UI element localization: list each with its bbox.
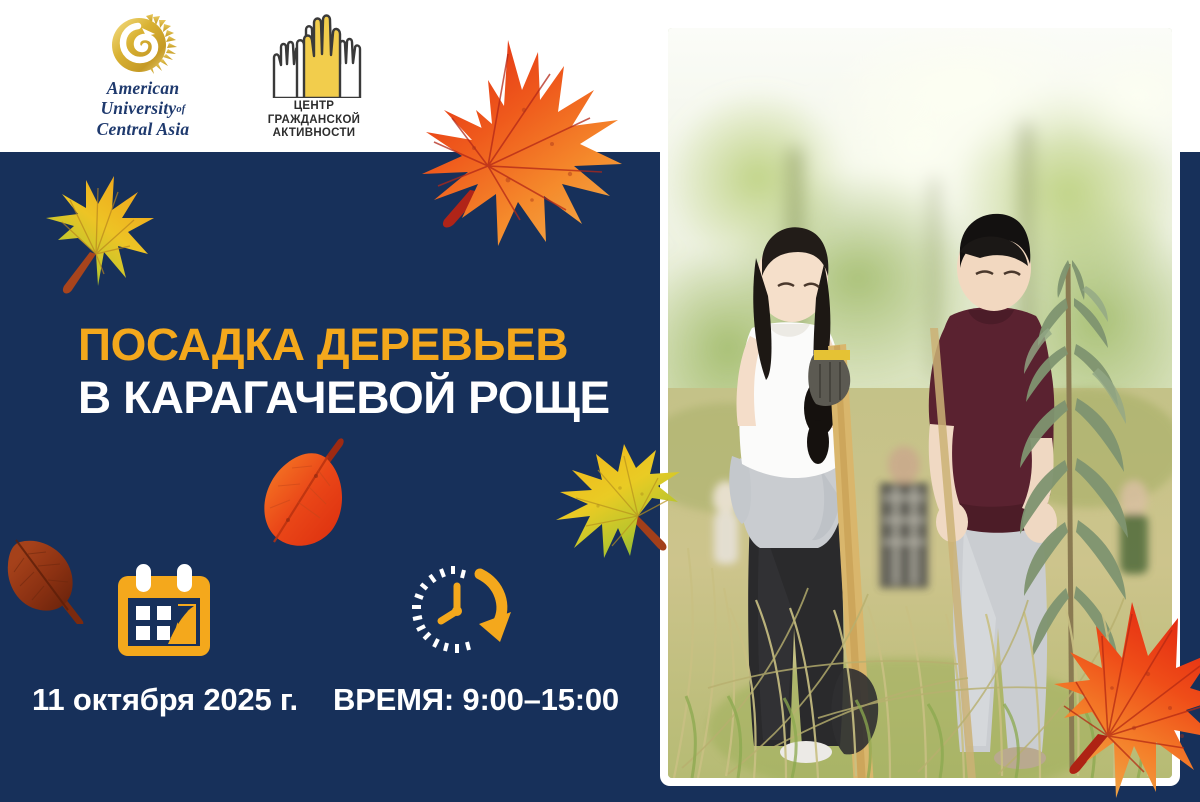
event-time-block: ВРЕМЯ: 9:00–15:00 [330,560,622,718]
auca-logo: American Universityof Central Asia [72,12,214,144]
maple-leaf-yellow-mid-icon [546,444,680,568]
auca-line-1: American [107,78,180,98]
maple-leaf-top-icon [404,14,626,254]
auca-eagle-sun-emblem-icon [108,12,180,78]
cga-line-1: ЦЕНТР [294,100,335,112]
event-time-label: ВРЕМЯ: 9:00–15:00 [330,682,622,718]
auca-line-2-suffix: of [176,105,185,116]
cga-line-2: ГРАЖДАНСКОЙ [268,114,361,126]
headline-line-2: В КАРАГАЧЕВОЙ РОЩЕ [78,371,670,424]
auca-line-2: University [100,98,176,118]
auca-logo-text: American Universityof Central Asia [72,78,214,139]
oval-leaf-dark-red-icon [2,532,88,624]
clock-icon-wrap [330,560,622,660]
civic-activity-center-logo-text: ЦЕНТР ГРАЖДАНСКОЙ АКТИВНОСТИ [238,100,390,141]
maple-leaf-yellow-left-icon [34,166,162,294]
civic-activity-center-logo: ЦЕНТР ГРАЖДАНСКОЙ АКТИВНОСТИ [244,14,384,144]
headline: ПОСАДКА ДЕРЕВЬЕВ В КАРАГАЧЕВОЙ РОЩЕ [78,318,658,424]
poster-canvas: American Universityof Central Asia [0,0,1200,802]
cga-line-3: АКТИВНОСТИ [273,127,356,139]
event-info: 11 октября 2025 г. [0,560,660,740]
maple-leaf-bottom-icon [1052,596,1200,802]
event-date-label: 11 октября 2025 г. [26,682,304,718]
raised-hands-icon [260,14,370,98]
clock-icon [408,560,518,660]
headline-line-1: ПОСАДКА ДЕРЕВЬЕВ [78,318,670,371]
calendar-icon [112,560,216,660]
auca-line-3: Central Asia [97,119,190,139]
oval-leaf-orange-icon [256,438,358,556]
